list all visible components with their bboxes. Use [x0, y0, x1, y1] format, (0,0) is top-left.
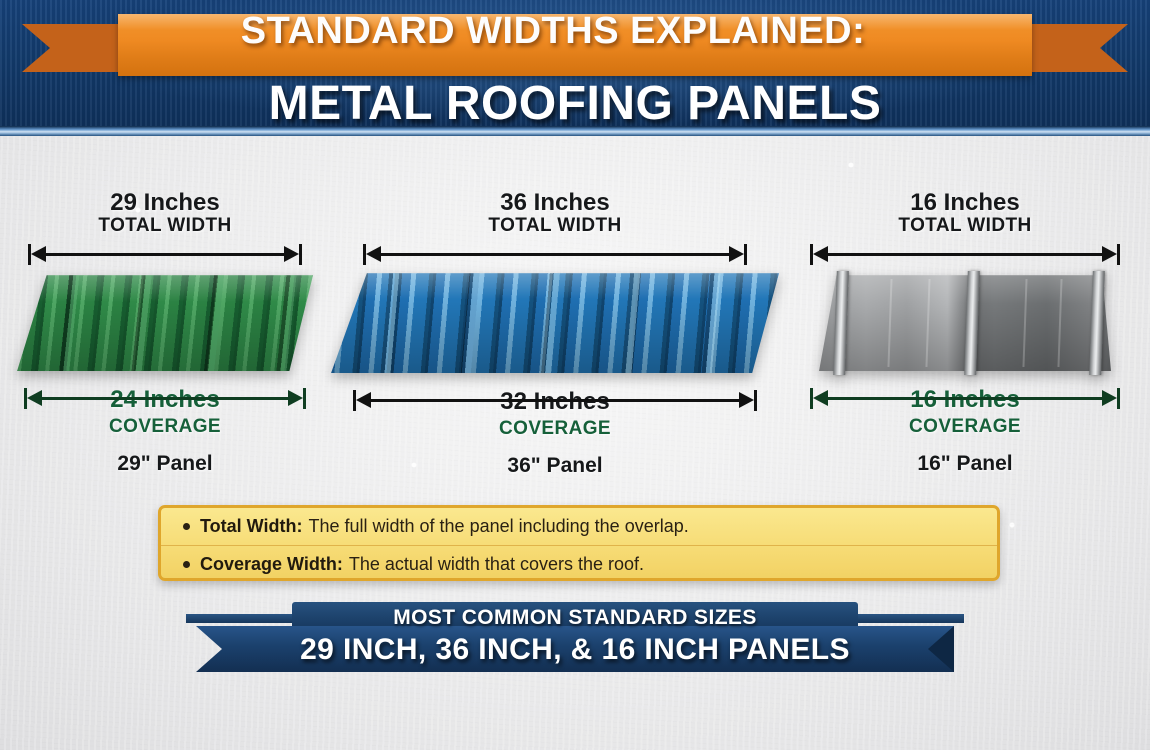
blue-panel-ribs — [331, 273, 779, 373]
definitions-callout-box: Total Width: The full width of the panel… — [158, 505, 1000, 581]
metal-panel-image-16 — [780, 275, 1150, 371]
panel-name-16: 16" Panel — [780, 452, 1150, 475]
coverage-label-36: COVERAGE — [325, 419, 785, 440]
panel-group-29: 29 Inches TOTAL WIDTH 24 Inches COVERAGE… — [0, 190, 330, 475]
coverage-dimension-arrow-36 — [325, 387, 785, 413]
panel-group-16: 16 Inches TOTAL WIDTH — [780, 190, 1150, 475]
total-width-dimension-arrow-16 — [780, 241, 1150, 267]
total-width-dimension-arrow-29 — [0, 241, 330, 267]
metal-panel-image-36 — [325, 273, 785, 373]
header-banner: STANDARD WIDTHS EXPLAINED: METAL ROOFING… — [0, 0, 1150, 136]
header-title-bottom: METAL ROOFING PANELS — [0, 76, 1150, 131]
bullet-icon — [183, 523, 190, 530]
footer-banner: MOST COMMON STANDARD SIZES 29 INCH, 36 I… — [0, 598, 1150, 676]
footer-text-line2: 29 INCH, 36 INCH, & 16 INCH PANELS — [196, 628, 954, 672]
coverage-dimension-arrow-16 — [780, 385, 1150, 411]
bullet-icon — [183, 561, 190, 568]
coverage-label-16: COVERAGE — [780, 417, 1150, 438]
total-width-label-29: TOTAL WIDTH — [0, 216, 330, 237]
header-title-top: STANDARD WIDTHS EXPLAINED: — [96, 0, 1010, 62]
green-panel-ribs — [17, 275, 313, 371]
definition-text-total-width: The full width of the panel including th… — [308, 516, 688, 537]
definition-row-coverage-width: Coverage Width: The actual width that co… — [161, 546, 997, 583]
total-width-label-16: TOTAL WIDTH — [780, 216, 1150, 237]
total-width-value-29: 29 Inches — [0, 190, 330, 216]
coverage-dimension-arrow-29 — [0, 385, 330, 411]
coverage-label-29: COVERAGE — [0, 417, 330, 438]
footer-wing-right — [844, 614, 964, 623]
panel-group-36: 36 Inches TOTAL WIDTH 32 Inches COVERAGE… — [325, 190, 785, 477]
total-width-value-36: 36 Inches — [325, 190, 785, 216]
panel-name-29: 29" Panel — [0, 452, 330, 475]
definition-label-coverage-width: Coverage Width: — [200, 554, 343, 575]
total-width-label-36: TOTAL WIDTH — [325, 216, 785, 237]
definition-text-coverage-width: The actual width that covers the roof. — [349, 554, 644, 575]
total-width-value-16: 16 Inches — [780, 190, 1150, 216]
definition-label-total-width: Total Width: — [200, 516, 302, 537]
footer-wing-left — [186, 614, 306, 623]
total-width-dimension-arrow-36 — [325, 241, 785, 267]
infographic-root: STANDARD WIDTHS EXPLAINED: METAL ROOFING… — [0, 0, 1150, 750]
metal-panel-image-29 — [0, 275, 330, 371]
definition-row-total-width: Total Width: The full width of the panel… — [161, 508, 997, 546]
panel-name-36: 36" Panel — [325, 454, 785, 477]
